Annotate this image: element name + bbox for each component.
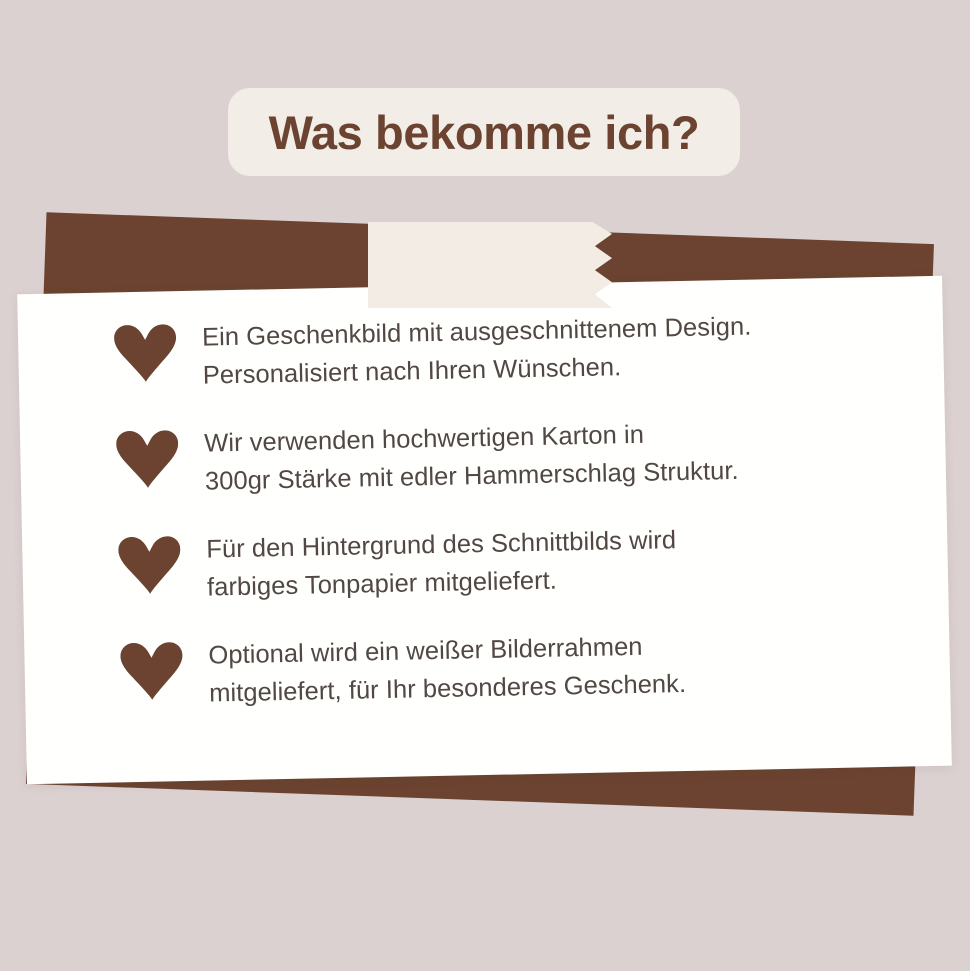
list-item: Wir verwenden hochwertigen Karton in 300… xyxy=(116,409,906,503)
list-item-text: Optional wird ein weißer Bilderrahmen mi… xyxy=(208,625,686,713)
list-item: Optional wird ein weißer Bilderrahmen mi… xyxy=(120,621,910,715)
list-item: Für den Hintergrund des Schnittbilds wir… xyxy=(118,515,908,609)
benefits-list: Ein Geschenkbild mit ausgeschnittenem De… xyxy=(17,276,952,784)
title-pill: Was bekomme ich? xyxy=(228,88,740,176)
heart-icon xyxy=(114,323,177,384)
list-item-text: Wir verwenden hochwertigen Karton in 300… xyxy=(204,412,739,501)
page-title: Was bekomme ich? xyxy=(269,109,700,156)
heart-icon xyxy=(118,535,181,596)
list-item-text: Für den Hintergrund des Schnittbilds wir… xyxy=(206,519,677,606)
list-item-line: mitgeliefert, für Ihr besonderes Geschen… xyxy=(209,665,687,713)
heart-icon xyxy=(120,641,183,702)
list-item: Ein Geschenkbild mit ausgeschnittenem De… xyxy=(114,303,904,397)
graphic-canvas: Was bekomme ich? Ein Geschenkbild mit au… xyxy=(0,0,970,971)
heart-icon xyxy=(116,429,179,490)
list-item-line: farbiges Tonpapier mitgeliefert. xyxy=(207,559,677,606)
list-item-text: Ein Geschenkbild mit ausgeschnittenem De… xyxy=(202,306,753,395)
